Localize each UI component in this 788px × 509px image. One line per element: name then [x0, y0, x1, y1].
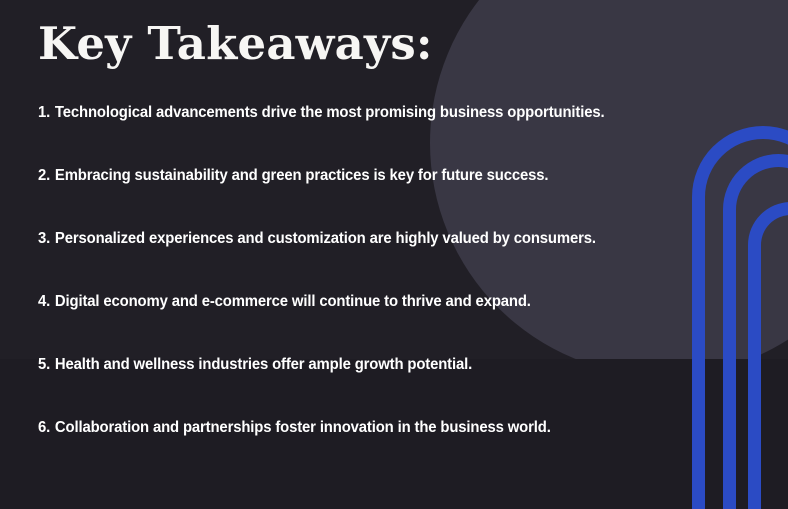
- slide-content: Key Takeaways: 1. Technological advancem…: [0, 0, 788, 438]
- list-item-number: 4.: [38, 293, 50, 312]
- list-item: 6. Collaboration and partnerships foster…: [38, 419, 758, 438]
- list-item-number: 2.: [38, 167, 50, 186]
- list-item-text: Personalized experiences and customizati…: [55, 230, 596, 249]
- list-item: 1. Technological advancements drive the …: [38, 104, 758, 123]
- list-item: 2. Embracing sustainability and green pr…: [38, 167, 758, 186]
- slide-canvas: Key Takeaways: 1. Technological advancem…: [0, 0, 788, 509]
- list-item-text: Embracing sustainability and green pract…: [55, 167, 548, 186]
- list-item-number: 1.: [38, 104, 50, 123]
- list-item-text: Health and wellness industries offer amp…: [55, 356, 472, 375]
- list-item-text: Digital economy and e-commerce will cont…: [55, 293, 531, 312]
- page-title: Key Takeaways:: [38, 18, 788, 70]
- list-item: 4. Digital economy and e-commerce will c…: [38, 293, 758, 312]
- list-item-number: 3.: [38, 230, 50, 249]
- list-item: 5. Health and wellness industries offer …: [38, 356, 758, 375]
- list-item-number: 5.: [38, 356, 50, 375]
- list-item: 3. Personalized experiences and customiz…: [38, 230, 758, 249]
- list-item-number: 6.: [38, 419, 50, 438]
- list-item-text: Technological advancements drive the mos…: [55, 104, 605, 123]
- list-item-text: Collaboration and partnerships foster in…: [55, 419, 551, 438]
- takeaway-list: 1. Technological advancements drive the …: [38, 104, 788, 438]
